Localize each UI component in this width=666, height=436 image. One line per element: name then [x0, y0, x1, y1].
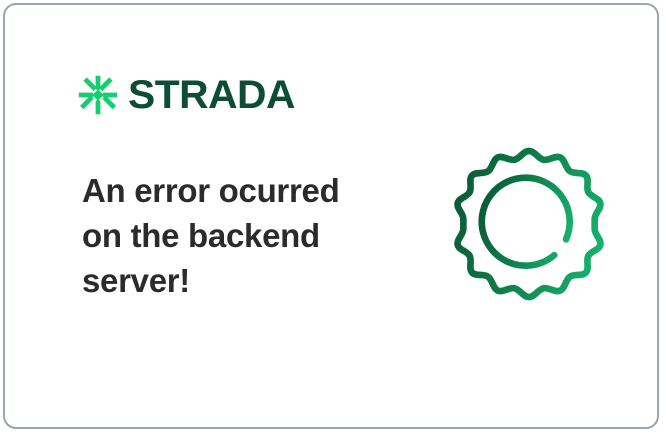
brand-wordmark: STRADA: [128, 75, 295, 115]
brand-logo: STRADA: [78, 75, 292, 115]
error-message-heading: An error ocurred on the backend server!: [82, 168, 382, 303]
gear-cog-icon: [446, 141, 612, 307]
error-card: STRADA An error ocurred on the backend s…: [3, 3, 659, 429]
asterisk-star-icon: [78, 75, 118, 115]
